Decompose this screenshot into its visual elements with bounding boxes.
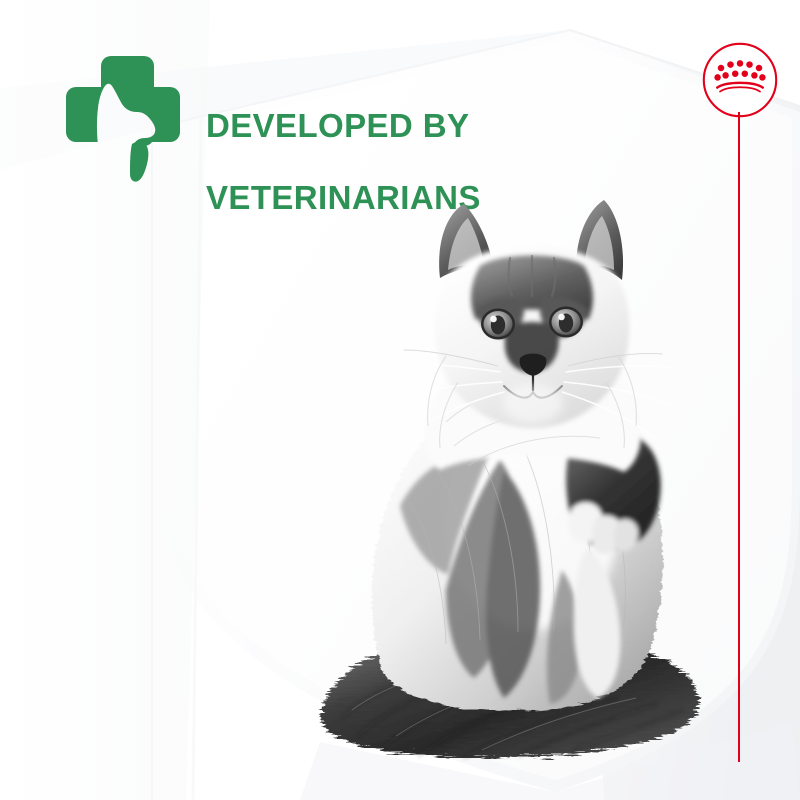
promo-banner: Veterinary cross containing a dog head s…: [0, 0, 800, 800]
cat-photo: Black and white photograph of a fluffy r…: [232, 170, 732, 770]
brand-stem-line: [738, 112, 740, 762]
veterinary-cross-with-dog-silhouette-icon: Veterinary cross containing a dog head s…: [60, 52, 186, 184]
headline-line-1: DEVELOPED BY: [206, 108, 566, 144]
royal-canin-crown-icon: Royal Canin: [699, 39, 781, 121]
